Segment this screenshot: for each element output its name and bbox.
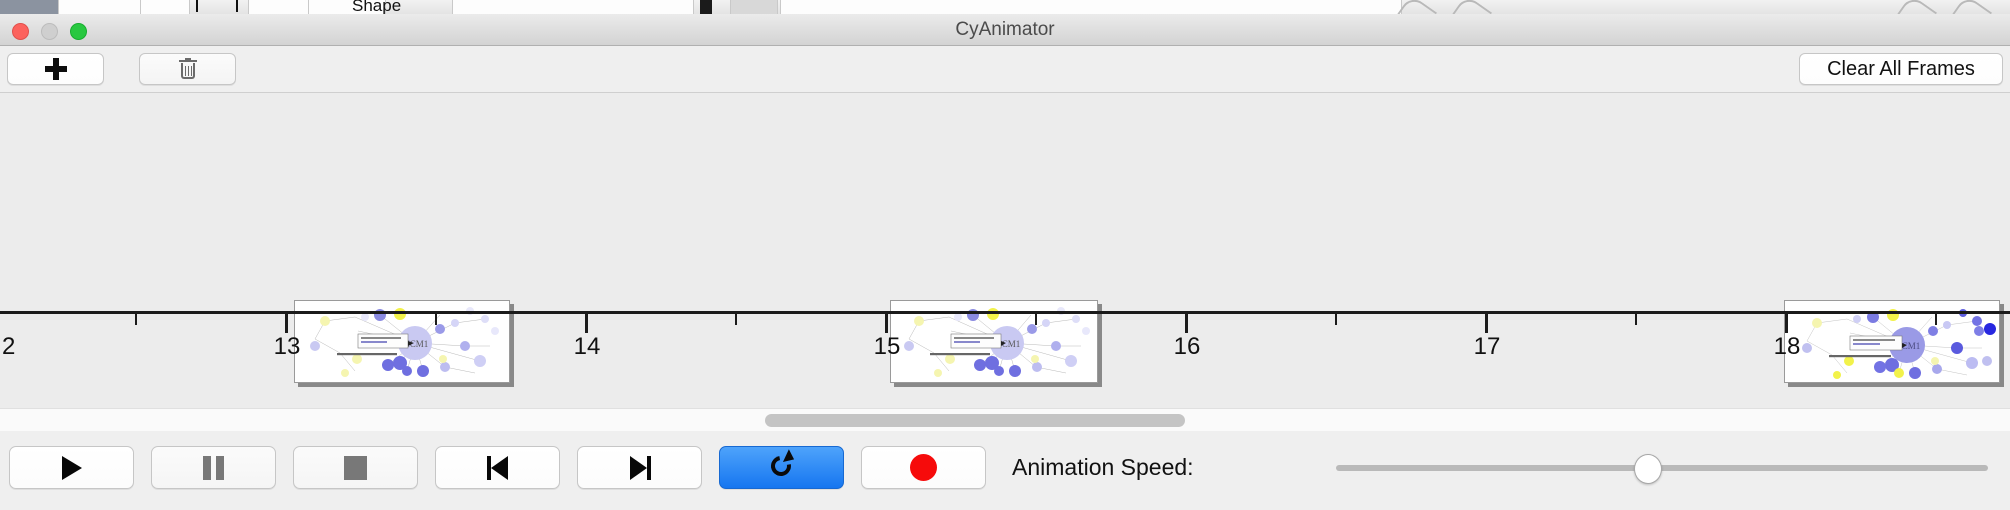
- delete-frame-button[interactable]: [139, 53, 236, 85]
- stop-button[interactable]: [293, 446, 418, 489]
- axis-tick-major: [1185, 314, 1188, 333]
- clear-all-frames-label: Clear All Frames: [1827, 58, 1975, 81]
- axis-tick-minor: [435, 314, 437, 325]
- plus-icon: [45, 58, 67, 80]
- axis-tick-major: [585, 314, 588, 333]
- background-window-strip: Shape: [0, 0, 2010, 15]
- axis-tick-minor: [1335, 314, 1337, 325]
- playback-control-bar: Animation Speed:: [0, 431, 2010, 510]
- axis-tick-minor: [1935, 314, 1937, 325]
- axis-tick-label: 15: [874, 333, 901, 361]
- timeline-panel[interactable]: MCM1: [0, 93, 2010, 408]
- trash-icon: [179, 58, 197, 80]
- stop-icon: [344, 456, 367, 480]
- title-bar: CyAnimator: [0, 14, 2010, 46]
- timeline-axis: [0, 311, 2010, 314]
- axis-tick-label: 14: [574, 333, 601, 361]
- skip-back-button[interactable]: [435, 446, 560, 489]
- skip-forward-icon: [629, 456, 651, 480]
- axis-tick-major: [285, 314, 288, 333]
- slider-track[interactable]: [1336, 465, 1988, 471]
- axis-tick-label: 2: [2, 333, 15, 361]
- clear-all-frames-button[interactable]: Clear All Frames: [1799, 53, 2003, 85]
- cyanimator-window: Shape CyAnimator Clear All Frames: [0, 0, 2010, 510]
- toolbar: Clear All Frames: [0, 46, 2010, 93]
- play-icon: [62, 456, 82, 480]
- timeline-scrollbar[interactable]: [0, 408, 2010, 432]
- axis-tick-label: 13: [274, 333, 301, 361]
- axis-tick-major: [1485, 314, 1488, 333]
- animation-speed-label: Animation Speed:: [1012, 446, 1194, 489]
- loop-button[interactable]: [719, 446, 844, 489]
- axis-tick-label: 18: [1774, 333, 1801, 361]
- record-button[interactable]: [861, 446, 986, 489]
- skip-forward-button[interactable]: [577, 446, 702, 489]
- skip-back-icon: [487, 456, 509, 480]
- background-window-label: Shape: [352, 0, 401, 15]
- loop-icon: [769, 454, 795, 481]
- axis-tick-major: [885, 314, 888, 333]
- axis-tick-minor: [1635, 314, 1637, 325]
- axis-tick-minor: [135, 314, 137, 325]
- axis-tick-label: 16: [1174, 333, 1201, 361]
- slider-thumb[interactable]: [1634, 454, 1662, 484]
- pause-icon: [203, 456, 224, 480]
- animation-speed-slider[interactable]: [1336, 446, 1988, 489]
- pause-button[interactable]: [151, 446, 276, 489]
- axis-tick-minor: [735, 314, 737, 325]
- axis-tick-major: [1785, 314, 1788, 333]
- axis-tick-minor: [1035, 314, 1037, 325]
- play-button[interactable]: [9, 446, 134, 489]
- add-frame-button[interactable]: [7, 53, 104, 85]
- scrollbar-thumb[interactable]: [765, 414, 1185, 427]
- record-icon: [910, 454, 937, 481]
- window-title: CyAnimator: [0, 14, 2010, 45]
- axis-tick-label: 17: [1474, 333, 1501, 361]
